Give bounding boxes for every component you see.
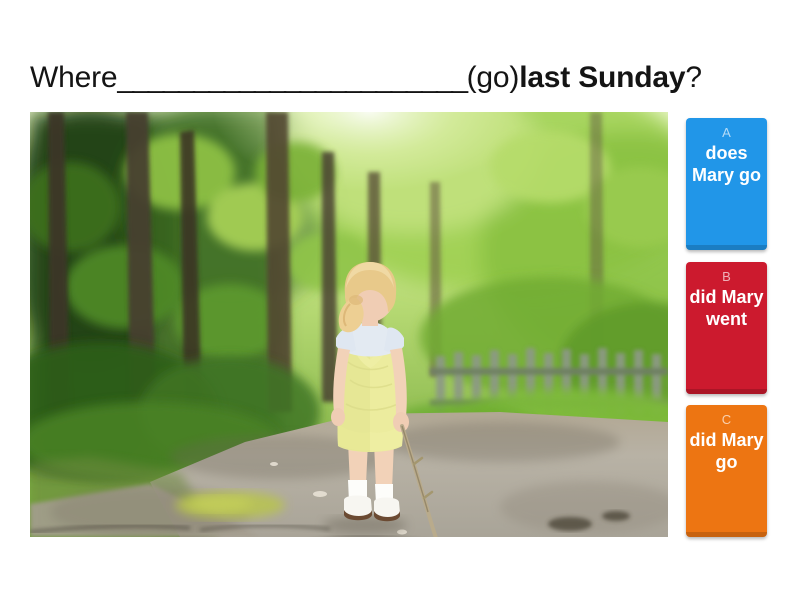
answer-card-a[interactable]: A does Mary go	[686, 118, 767, 250]
question-prompt: Where _______________________(go) last S…	[30, 52, 770, 104]
answer-letter-a: A	[722, 125, 731, 140]
question-verb-cue: (go)	[467, 61, 520, 95]
question-prefix: Where	[30, 61, 117, 95]
answer-letter-b: B	[722, 269, 731, 284]
answer-card-b[interactable]: B did Mary went	[686, 262, 767, 394]
answer-text-c: did Mary go	[686, 429, 767, 473]
question-image	[30, 112, 668, 537]
answer-card-c[interactable]: C did Mary go	[686, 405, 767, 537]
forest-path-illustration	[30, 112, 668, 537]
question-suffix: ?	[685, 61, 702, 95]
question-emphasis: last Sunday	[519, 61, 685, 95]
answer-text-a: does Mary go	[686, 142, 767, 186]
answer-letter-c: C	[722, 412, 731, 427]
answer-text-b: did Mary went	[686, 286, 767, 330]
question-blank: _______________________	[117, 61, 466, 95]
quiz-slide: Where _______________________(go) last S…	[0, 0, 800, 600]
answer-options: A does Mary go B did Mary went C did Mar…	[686, 118, 767, 537]
